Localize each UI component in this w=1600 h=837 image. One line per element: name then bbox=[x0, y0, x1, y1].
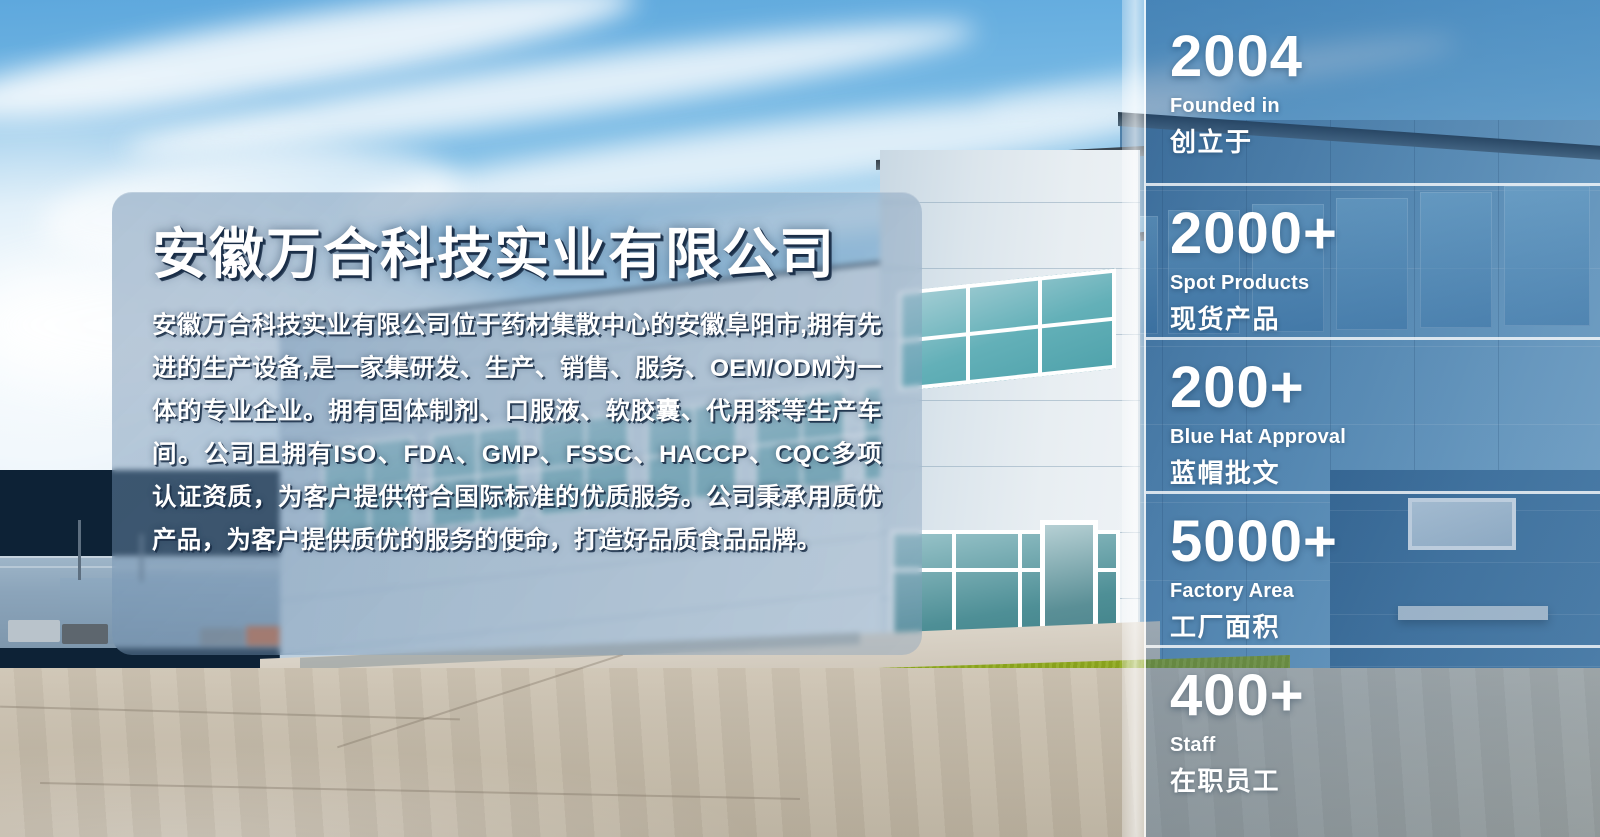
stat-divider bbox=[1146, 645, 1600, 648]
stat-divider bbox=[1146, 491, 1600, 494]
stat-number: 400+ bbox=[1170, 667, 1600, 725]
stat-number: 2004 bbox=[1170, 28, 1600, 86]
stat-number: 2000+ bbox=[1170, 205, 1600, 263]
stat-label-en: Staff bbox=[1170, 734, 1600, 757]
stat-number: 5000+ bbox=[1170, 513, 1600, 571]
stat-label-cn: 在职员工 bbox=[1170, 761, 1600, 798]
stat-label-cn: 创立于 bbox=[1170, 122, 1600, 159]
stat-item-spot-products: 2000+ Spot Products 现货产品 bbox=[1170, 183, 1600, 336]
utility-pole bbox=[78, 520, 81, 580]
stat-label-cn: 工厂面积 bbox=[1170, 607, 1600, 644]
stat-divider bbox=[1146, 183, 1600, 186]
company-description: 安徽万合科技实业有限公司位于药材集散中心的安徽阜阳市,拥有先进的生产设备,是一家… bbox=[152, 304, 882, 563]
stat-label-en: Spot Products bbox=[1170, 272, 1600, 295]
stat-item-blue-hat-approval: 200+ Blue Hat Approval 蓝帽批文 bbox=[1170, 337, 1600, 490]
parked-vehicle bbox=[62, 624, 108, 644]
stat-divider bbox=[1146, 337, 1600, 340]
stat-label-cn: 蓝帽批文 bbox=[1170, 453, 1600, 490]
stat-item-founded: 2004 Founded in 创立于 bbox=[1170, 28, 1600, 159]
stat-label-en: Factory Area bbox=[1170, 580, 1600, 603]
company-info-card: 安徽万合科技实业有限公司 安徽万合科技实业有限公司位于药材集散中心的安徽阜阳市,… bbox=[112, 192, 922, 655]
stat-label-en: Founded in bbox=[1170, 95, 1600, 118]
stats-list: 2004 Founded in 创立于 2000+ Spot Products … bbox=[1122, 0, 1600, 837]
statistics-panel: 2004 Founded in 创立于 2000+ Spot Products … bbox=[1122, 0, 1600, 837]
stat-label-cn: 现货产品 bbox=[1170, 299, 1600, 336]
stat-label-en: Blue Hat Approval bbox=[1170, 426, 1600, 449]
stat-number: 200+ bbox=[1170, 359, 1600, 417]
stat-item-staff: 400+ Staff 在职员工 bbox=[1170, 645, 1600, 798]
page-title: 安徽万合科技实业有限公司 bbox=[152, 226, 882, 284]
stat-item-factory-area: 5000+ Factory Area 工厂面积 bbox=[1170, 491, 1600, 644]
company-profile-banner: 安徽万合科技实业有限公司 安徽万合科技实业有限公司位于药材集散中心的安徽阜阳市,… bbox=[0, 0, 1600, 837]
parked-vehicle bbox=[8, 620, 60, 642]
